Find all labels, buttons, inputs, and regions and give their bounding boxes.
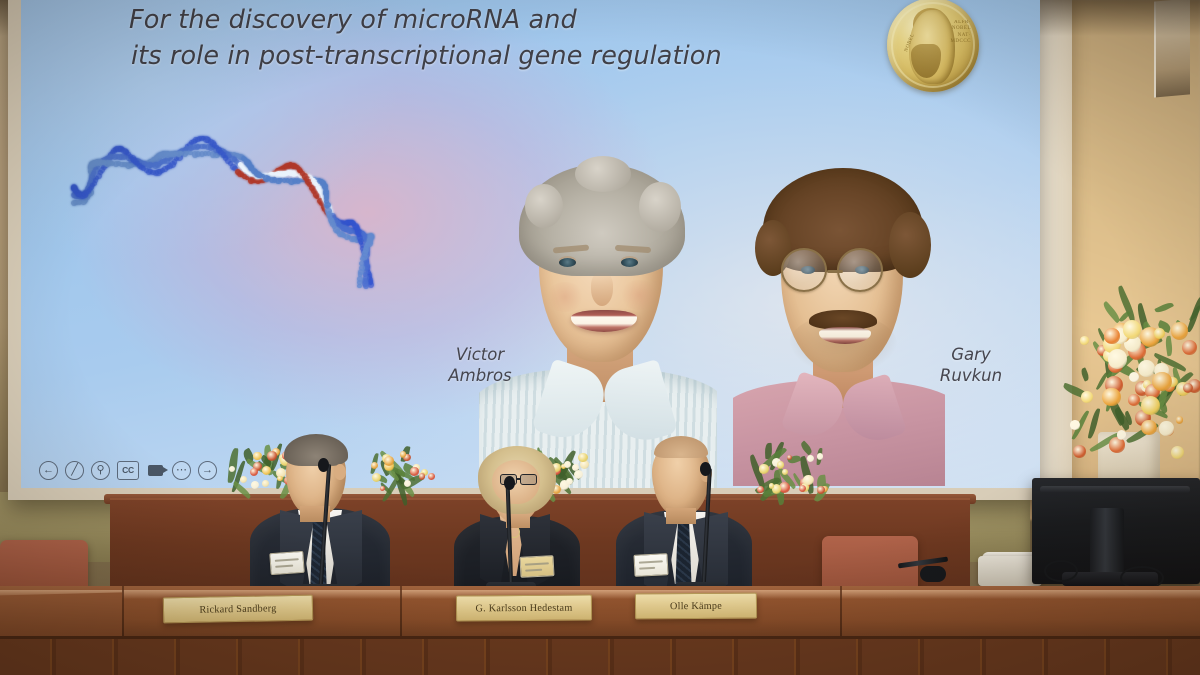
magnifier-icon[interactable]: ⚲ <box>91 461 110 480</box>
panelist-1-hair <box>284 434 348 466</box>
caption-ruvkun-line-2: Ruvkun <box>921 365 1021 386</box>
flower-bloom <box>1123 320 1142 339</box>
flower-bloom <box>817 453 824 460</box>
caption-ambros-line-1: Victor <box>425 344 535 365</box>
slide-title-line-1: For the discovery of microRNA and <box>129 5 577 35</box>
panelist-1-microphone-head <box>318 458 329 472</box>
portrait-gary-ruvkun <box>733 164 945 486</box>
boom-microphone-head <box>920 566 946 582</box>
flower-bloom <box>799 485 806 492</box>
panelist-1 <box>246 430 392 610</box>
panelist-1-name-badge <box>269 551 304 575</box>
flower-bloom <box>817 486 824 493</box>
more-options-icon[interactable]: ⋯ <box>172 461 191 480</box>
nameplate-3-text: Olle Kämpe <box>670 600 722 611</box>
flower-bloom <box>1117 430 1126 439</box>
flower-bloom <box>1159 421 1173 435</box>
camera-icon[interactable] <box>146 461 165 480</box>
ambros-cheek-right <box>619 280 659 310</box>
flower-bloom <box>759 464 768 473</box>
slide-title-line-2: its role in post-transcriptional gene re… <box>131 38 829 74</box>
flower-bloom <box>777 461 784 468</box>
flower-arrangement-large <box>1070 282 1200 488</box>
flower-bloom <box>1128 394 1140 406</box>
panelist-3-neck <box>666 508 696 524</box>
flower-bloom <box>404 480 411 487</box>
ruvkun-glasses-bridge <box>827 270 843 273</box>
flower-bloom <box>1073 445 1086 458</box>
ruvkun-glasses-right-lens <box>837 248 883 292</box>
ambros-hair-tuft-2 <box>639 182 681 232</box>
nobel-medal-icon: NOBEL ALFR·NOBELNAT·MDCCC <box>887 0 979 92</box>
monitor-cable-2 <box>1044 560 1078 582</box>
flower-bloom <box>1138 360 1155 377</box>
flower-bloom <box>1129 372 1139 382</box>
nameplate-1-text: Rickard Sandberg <box>199 603 276 615</box>
nameplate-olle-kampe: Olle Kämpe <box>635 593 757 620</box>
nameplate-karlsson-hedestam: G. Karlsson Hedestam <box>456 595 592 622</box>
flower-bloom <box>1070 420 1080 430</box>
flower-bloom <box>807 455 814 462</box>
ambros-cheek-left <box>545 282 585 312</box>
flower-bloom <box>419 473 425 479</box>
ruvkun-glasses-left-lens <box>781 248 827 292</box>
caption-gary-ruvkun: Gary Ruvkun <box>921 344 1021 387</box>
flower-bloom <box>757 486 764 493</box>
desk-left-section <box>0 592 122 641</box>
caption-ambros-line-2: Ambros <box>425 365 535 386</box>
presentation-toolbar[interactable]: ←╱⚲CC⋯→ <box>39 461 217 480</box>
flower-leaf <box>799 440 814 455</box>
flower-arrangement-4 <box>750 440 828 500</box>
forward-arrow-icon[interactable]: → <box>198 461 217 480</box>
flower-bloom <box>1081 391 1093 403</box>
flower-bloom <box>1171 322 1188 339</box>
panelist-2-glasses-bridge <box>517 478 521 480</box>
nameplate-rickard-sandberg: Rickard Sandberg <box>163 595 313 624</box>
nameplate-2-text: G. Karlsson Hedestam <box>475 602 572 614</box>
slide-title: For the discovery of microRNA and its ro… <box>129 2 829 74</box>
panelist-2-name-badge <box>519 555 554 578</box>
panelist-2-glasses-right <box>520 474 537 485</box>
flower-leaf <box>1186 296 1200 333</box>
flower-leaf <box>1079 368 1089 382</box>
flower-bloom <box>1109 437 1124 452</box>
closed-caption-icon[interactable]: CC <box>117 461 139 480</box>
panelist-3-bald-crown <box>654 436 708 458</box>
ruvkun-hair-side-right <box>889 212 931 278</box>
monitor-vent <box>1040 486 1190 493</box>
ambros-hair-tuft-1 <box>525 184 563 228</box>
panelist-3-microphone-head <box>700 462 711 476</box>
flower-bloom <box>782 469 788 475</box>
flower-bloom <box>1141 420 1157 436</box>
ambros-nose <box>591 272 613 306</box>
flower-bloom <box>1171 446 1184 459</box>
ambros-hair-tuft-3 <box>575 156 631 192</box>
flower-bloom <box>1182 340 1197 355</box>
flower-bloom <box>1102 388 1121 407</box>
flower-bloom <box>803 475 813 485</box>
caption-ruvkun-line-1: Gary <box>921 344 1021 365</box>
flower-bloom <box>1104 328 1120 344</box>
back-arrow-icon[interactable]: ← <box>39 461 58 480</box>
flower-bloom <box>1080 336 1089 345</box>
caption-victor-ambros: Victor Ambros <box>425 344 535 387</box>
projection-screen-frame: For the discovery of microRNA and its ro… <box>8 0 1038 500</box>
medal-text-right: ALFR·NOBELNAT·MDCCC <box>950 20 971 45</box>
screenshot-root: For the discovery of microRNA and its ro… <box>0 0 1200 675</box>
panel-desk-front <box>0 636 1200 675</box>
flower-bloom <box>410 467 418 475</box>
pen-icon[interactable]: ╱ <box>65 461 84 480</box>
flower-bloom <box>1108 349 1127 368</box>
flower-leaf <box>1154 301 1174 315</box>
flower-bloom <box>1176 416 1183 423</box>
desk-seam-2 <box>400 586 402 640</box>
panelist-2-microphone-head <box>504 476 515 490</box>
panelist-1-ear <box>334 464 346 480</box>
rna-strand-graphic <box>51 94 381 324</box>
desk-seam-3 <box>840 586 842 640</box>
ambros-eye-right <box>621 258 638 267</box>
flower-leaf <box>1165 336 1174 357</box>
panelist-3-name-badge <box>633 553 668 577</box>
projection-screen: For the discovery of microRNA and its ro… <box>21 0 1040 488</box>
flower-bloom <box>1154 328 1165 339</box>
ambros-eye-left <box>559 258 576 267</box>
flower-bloom <box>428 473 435 480</box>
desk-seam-1 <box>122 586 124 640</box>
